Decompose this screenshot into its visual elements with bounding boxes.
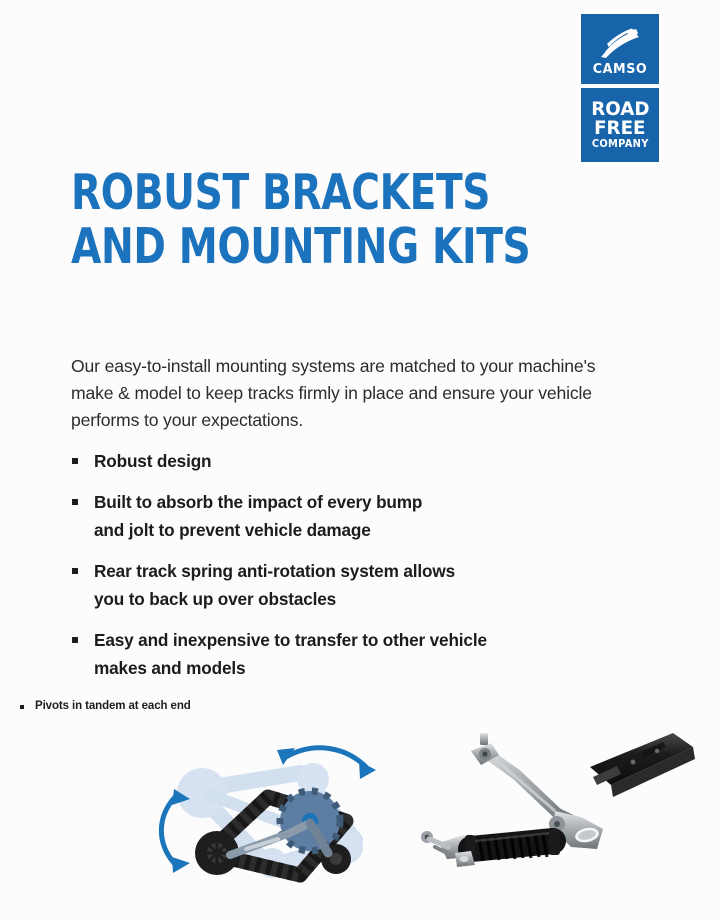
pivot-arrow-top-head-right: [359, 761, 376, 779]
pivot-arrow-top: [286, 748, 366, 767]
roadfree-line-company: COMPANY: [592, 140, 649, 150]
pivot-arrow-left: [161, 797, 175, 863]
pivot-arrow-left-head-bottom: [172, 857, 190, 873]
poster-page: CAMSO ROAD FREE COMPANY ROBUST BRACKETS …: [0, 0, 720, 920]
list-item: Easy and inexpensive to transfer to othe…: [71, 626, 631, 682]
feature-list: Robust design Built to absorb the impact…: [71, 447, 631, 695]
hardware-photo-svg: [405, 725, 710, 895]
camso-wordmark: CAMSO: [593, 63, 648, 77]
list-item: Built to absorb the impact of every bump…: [71, 488, 631, 544]
figure-row: [0, 725, 720, 900]
coil-spring-shock-part: [421, 829, 560, 867]
track-system-pivot-diagram: [150, 735, 400, 895]
track-diagram-svg: [150, 735, 400, 895]
figure-caption: Pivots in tandem at each end: [20, 700, 191, 712]
roadfree-line-free: FREE: [594, 120, 645, 138]
list-item: Robust design: [71, 447, 631, 475]
road-free-company-logo-box: ROAD FREE COMPANY: [581, 88, 659, 162]
brand-logo-stack: CAMSO ROAD FREE COMPANY: [581, 14, 659, 162]
camso-chevron-mark: [597, 28, 643, 60]
camso-logo-box: CAMSO: [581, 14, 659, 84]
rail-bracket-part: [590, 733, 695, 797]
list-item: Rear track spring anti-rotation system a…: [71, 557, 631, 613]
bracket-hardware-photo: [405, 725, 710, 895]
intro-paragraph: Our easy-to-install mounting systems are…: [71, 353, 641, 434]
page-title: ROBUST BRACKETS AND MOUNTING KITS: [71, 166, 530, 274]
